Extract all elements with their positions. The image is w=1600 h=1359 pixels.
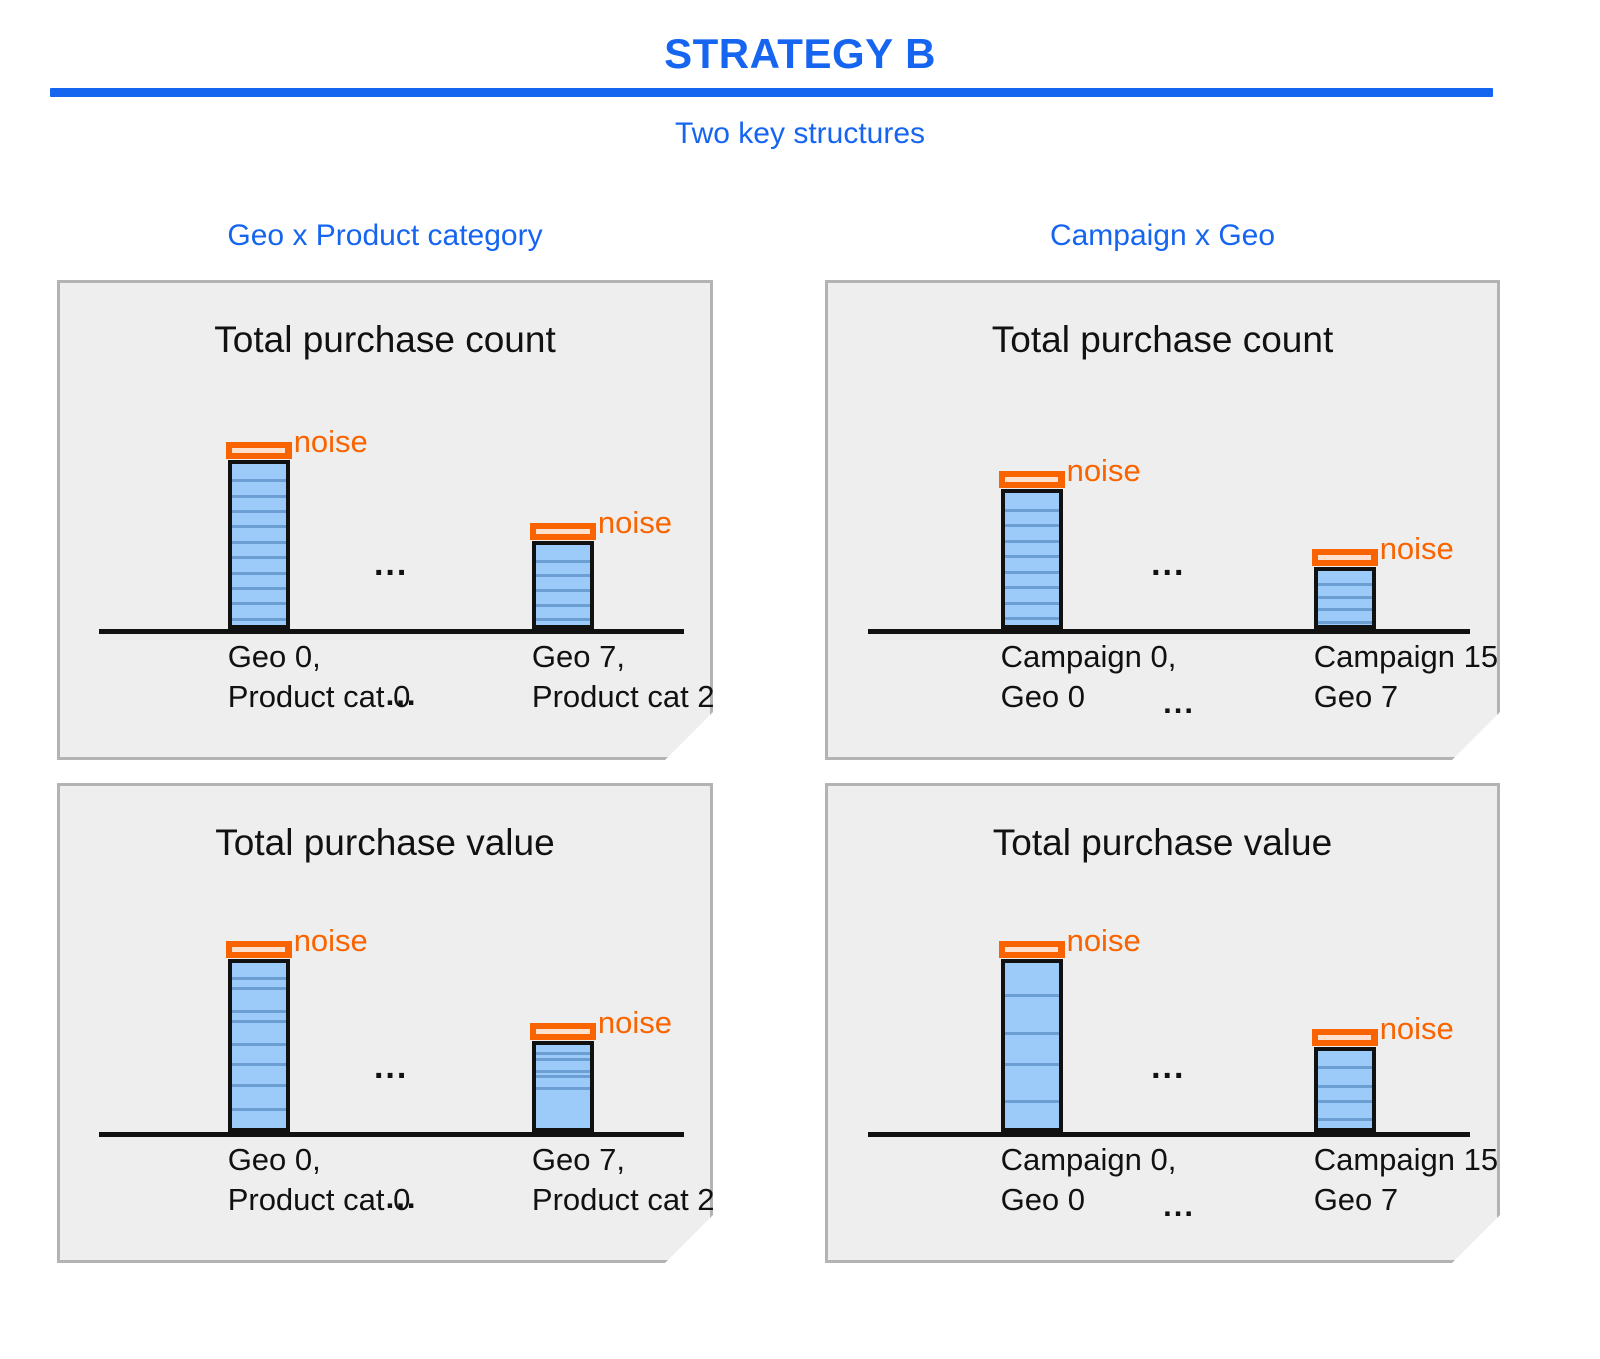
noise-label: noise xyxy=(598,505,672,541)
card-geo-product-value: Total purchase value noiseGeo 0,Product … xyxy=(57,783,713,1263)
axis-tick-label-line: Geo 0, xyxy=(228,1140,290,1180)
page-subtitle: Two key structures xyxy=(0,117,1600,151)
axis-tick-label-line: Campaign 0, xyxy=(1001,1140,1063,1180)
bar-segment-divider xyxy=(1005,540,1059,543)
bar-segment-divider xyxy=(1005,994,1059,997)
axis-tick-label-line: Product cat 0 xyxy=(228,1180,290,1220)
noise-bar xyxy=(1312,549,1378,566)
noise-bar xyxy=(999,471,1065,488)
bar-segment-divider xyxy=(1318,1085,1372,1088)
bar-segment-divider xyxy=(232,1108,286,1111)
bar-segment-divider xyxy=(536,589,590,592)
bar-segment-divider xyxy=(232,525,286,528)
bar-segment-divider xyxy=(1005,586,1059,589)
bar-group: noise xyxy=(228,959,290,1132)
noise-bar xyxy=(999,941,1065,958)
bar-segment-divider xyxy=(232,587,286,590)
bar xyxy=(228,460,290,629)
ellipsis-between-bars: ... xyxy=(374,1050,408,1084)
bar-group: noise xyxy=(1314,567,1376,629)
title-divider xyxy=(50,88,1493,97)
noise-bar xyxy=(1312,1029,1378,1046)
column-heading-geo-product: Geo x Product category xyxy=(57,219,713,253)
bar-segment-divider xyxy=(1005,524,1059,527)
bar-group: noise xyxy=(532,1041,594,1132)
bar-group: noise xyxy=(532,541,594,629)
axis-tick-label-line: Campaign 0, xyxy=(1001,637,1063,677)
bar-segment-divider xyxy=(1318,583,1372,586)
bar-segment-divider xyxy=(1005,555,1059,558)
axis-tick-label-line: Geo 7, xyxy=(532,637,594,677)
page-title: STRATEGY B xyxy=(0,30,1600,78)
noise-label: noise xyxy=(294,424,368,460)
card-campaign-geo-count: Total purchase count noiseCampaign 0,Geo… xyxy=(825,280,1500,760)
bar-segment-divider xyxy=(1005,571,1059,574)
bar xyxy=(1001,489,1063,629)
axis-tick-label-line: Product cat 0 xyxy=(228,677,290,717)
noise-bar xyxy=(530,1023,596,1040)
bar-segment-divider xyxy=(1318,621,1372,624)
noise-bar xyxy=(530,523,596,540)
bar-segment-divider xyxy=(536,618,590,621)
bar xyxy=(1001,959,1063,1132)
axis-tick-label-line: Campaign 15, xyxy=(1314,637,1376,677)
bar-segment-divider xyxy=(1318,1100,1372,1103)
column-heading-campaign-geo: Campaign x Geo xyxy=(825,219,1500,253)
bar-segment-divider xyxy=(232,1010,286,1013)
axis-tick-label: Campaign 0,Geo 0 xyxy=(1001,637,1063,716)
ellipsis-between-tick-labels: ... xyxy=(386,677,418,713)
bar-segment-divider xyxy=(232,510,286,513)
card-title: Total purchase count xyxy=(828,319,1497,361)
axis-tick-label: Geo 7,Product cat 28 xyxy=(532,1140,594,1219)
card-campaign-geo-value: Total purchase value noiseCampaign 0,Geo… xyxy=(825,783,1500,1263)
axis-tick-label: Campaign 0,Geo 0 xyxy=(1001,1140,1063,1219)
bar-group: noise xyxy=(228,460,290,629)
bar-segment-divider xyxy=(1005,602,1059,605)
noise-label: noise xyxy=(1380,1011,1454,1047)
chart-axis-line xyxy=(868,629,1470,634)
axis-tick-label-line: Geo 0 xyxy=(1001,1180,1063,1220)
card-geo-product-count: Total purchase count noiseGeo 0,Product … xyxy=(57,280,713,760)
bar-segment-divider xyxy=(536,1070,590,1073)
bar xyxy=(532,541,594,629)
bar xyxy=(1314,567,1376,629)
chart-axis-line xyxy=(99,629,684,634)
bar-segment-divider xyxy=(232,618,286,621)
bar xyxy=(1314,1047,1376,1132)
bar-segment-divider xyxy=(1318,1118,1372,1121)
ellipsis-between-bars: ... xyxy=(1151,1050,1185,1084)
bar-segment-divider xyxy=(232,541,286,544)
noise-bar xyxy=(226,941,292,958)
bar-segment-divider xyxy=(536,574,590,577)
bar-segment-divider xyxy=(232,987,286,990)
axis-tick-label-line: Product cat 28 xyxy=(532,1180,594,1220)
ellipsis-between-bars: ... xyxy=(1151,547,1185,581)
bar xyxy=(228,959,290,1132)
axis-tick-label-line: Geo 0, xyxy=(228,637,290,677)
noise-label: noise xyxy=(1067,923,1141,959)
bar-segment-divider xyxy=(536,560,590,563)
bar-segment-divider xyxy=(1005,509,1059,512)
bar-segment-divider xyxy=(232,602,286,605)
noise-label: noise xyxy=(294,923,368,959)
axis-tick-label: Campaign 15,Geo 7 xyxy=(1314,1140,1376,1219)
bar-segment-divider xyxy=(1005,1063,1059,1066)
axis-tick-label: Geo 0,Product cat 0 xyxy=(228,637,290,716)
bar-segment-divider xyxy=(232,556,286,559)
bar-segment-divider xyxy=(1318,608,1372,611)
bar-segment-divider xyxy=(1318,596,1372,599)
axis-tick-label: Campaign 15,Geo 7 xyxy=(1314,637,1376,716)
chart-campaign-geo-value: noiseCampaign 0,Geo 0noiseCampaign 15,Ge… xyxy=(868,904,1470,1260)
bar-segment-divider xyxy=(536,1075,590,1078)
noise-label: noise xyxy=(598,1005,672,1041)
bar-segment-divider xyxy=(232,495,286,498)
bar-segment-divider xyxy=(232,1020,286,1023)
bar-segment-divider xyxy=(536,1058,590,1061)
bar-segment-divider xyxy=(232,977,286,980)
bar-segment-divider xyxy=(1318,1066,1372,1069)
axis-tick-label-line: Campaign 15, xyxy=(1314,1140,1376,1180)
bar-group: noise xyxy=(1001,959,1063,1132)
bar-segment-divider xyxy=(1005,1100,1059,1103)
noise-label: noise xyxy=(1067,453,1141,489)
bar-segment-divider xyxy=(232,1063,286,1066)
chart-axis-line xyxy=(868,1132,1470,1137)
ellipsis-between-bars: ... xyxy=(374,547,408,581)
axis-tick-label: Geo 0,Product cat 0 xyxy=(228,1140,290,1219)
axis-tick-label-line: Product cat 28 xyxy=(532,677,594,717)
chart-campaign-geo-count: noiseCampaign 0,Geo 0noiseCampaign 15,Ge… xyxy=(868,401,1470,757)
axis-tick-label-line: Geo 7 xyxy=(1314,1180,1376,1220)
axis-tick-label: Geo 7,Product cat 28 xyxy=(532,637,594,716)
ellipsis-between-tick-labels: ... xyxy=(386,1180,418,1216)
card-title: Total purchase value xyxy=(828,822,1497,864)
bar-group: noise xyxy=(1001,489,1063,629)
axis-tick-label-line: Geo 0 xyxy=(1001,677,1063,717)
ellipsis-between-tick-labels: ... xyxy=(1163,1188,1195,1224)
bar-segment-divider xyxy=(536,604,590,607)
bar xyxy=(532,1041,594,1132)
card-title: Total purchase count xyxy=(60,319,710,361)
noise-bar xyxy=(226,442,292,459)
noise-label: noise xyxy=(1380,531,1454,567)
bar-group: noise xyxy=(1314,1047,1376,1132)
axis-tick-label-line: Geo 7 xyxy=(1314,677,1376,717)
bar-segment-divider xyxy=(536,1087,590,1090)
bar-segment-divider xyxy=(232,1043,286,1046)
axis-tick-label-line: Geo 7, xyxy=(532,1140,594,1180)
bar-segment-divider xyxy=(1005,1032,1059,1035)
chart-geo-product-value: noiseGeo 0,Product cat 0noiseGeo 7,Produ… xyxy=(99,904,684,1260)
bar-segment-divider xyxy=(232,572,286,575)
chart-axis-line xyxy=(99,1132,684,1137)
card-title: Total purchase value xyxy=(60,822,710,864)
bar-segment-divider xyxy=(232,1084,286,1087)
bar-segment-divider xyxy=(232,479,286,482)
bar-segment-divider xyxy=(536,1052,590,1055)
chart-geo-product-count: noiseGeo 0,Product cat 0noiseGeo 7,Produ… xyxy=(99,401,684,757)
ellipsis-between-tick-labels: ... xyxy=(1163,685,1195,721)
bar-segment-divider xyxy=(1005,617,1059,620)
